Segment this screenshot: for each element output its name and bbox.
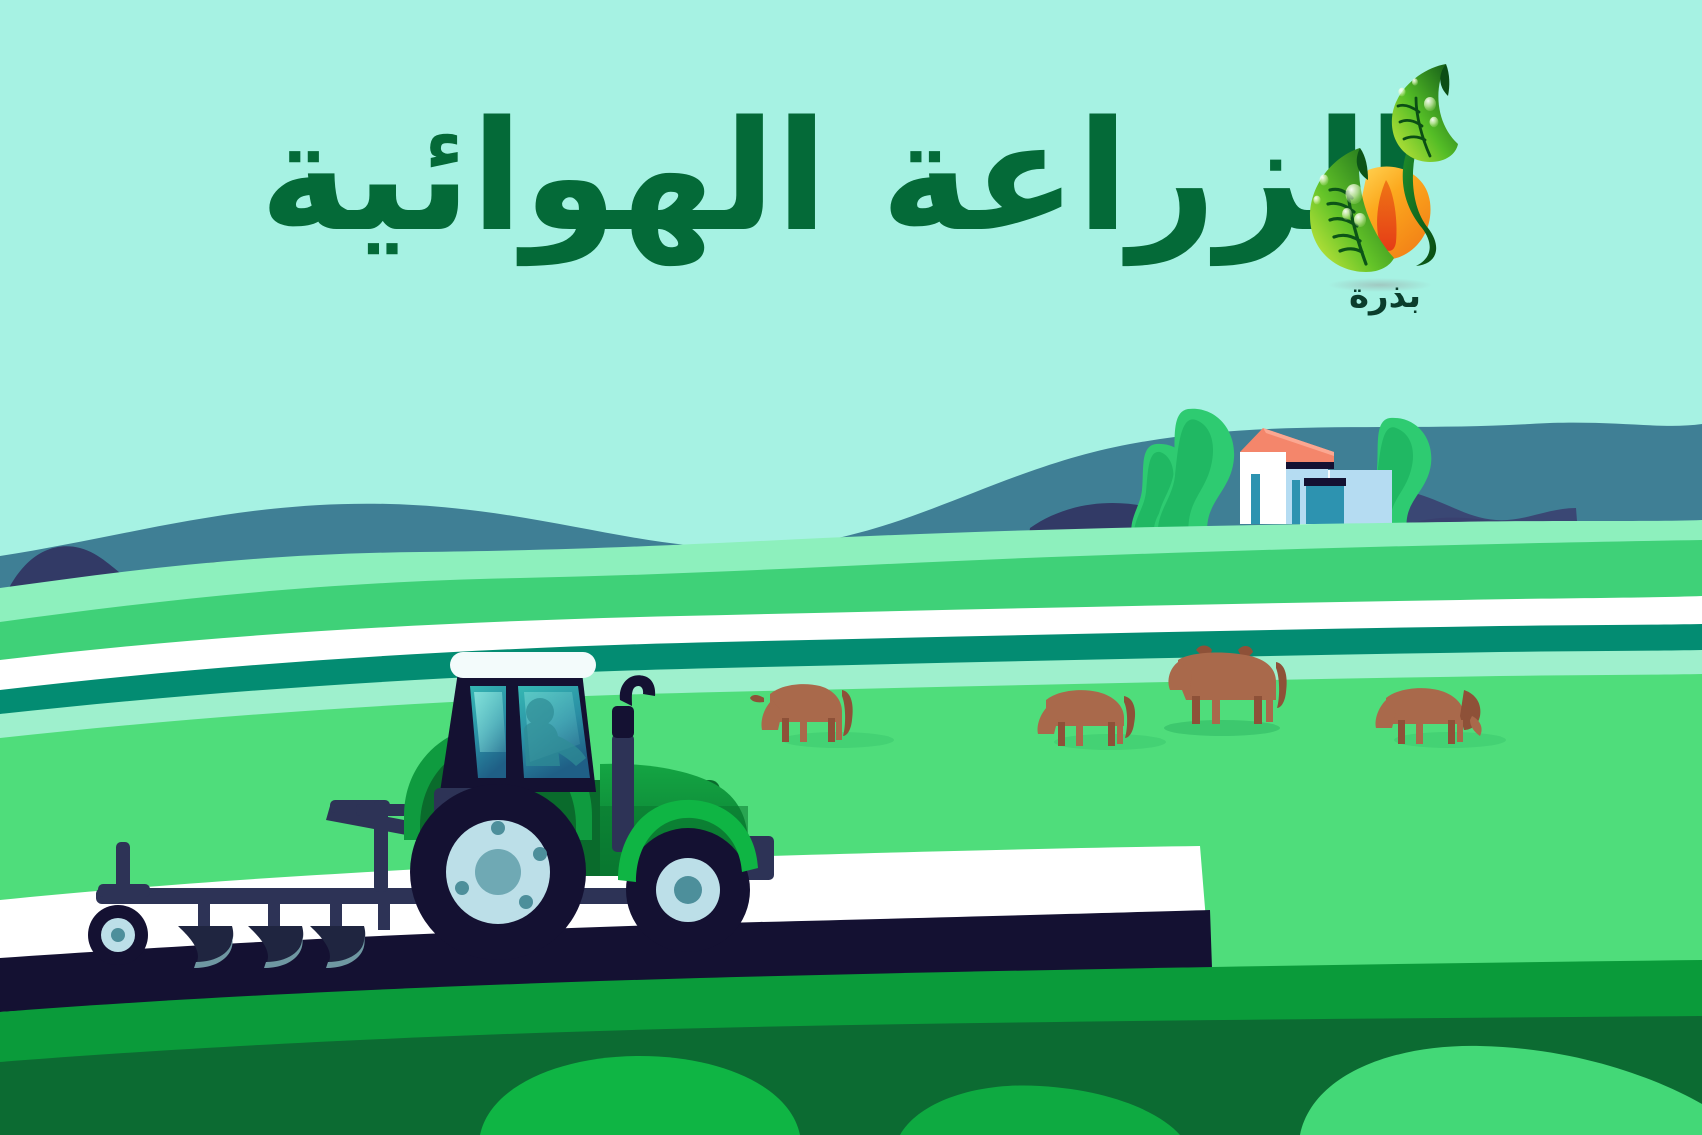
plow-beam <box>96 888 716 904</box>
lug-nut <box>519 895 533 909</box>
house-door <box>1292 480 1300 524</box>
tractor-exhaust-top <box>612 706 634 738</box>
garage-lintel <box>1304 478 1346 486</box>
plow-hitch-cross <box>356 804 408 816</box>
lug-nut <box>533 847 547 861</box>
tractor-roof <box>450 652 596 678</box>
lug-nut <box>455 881 469 895</box>
house-wall <box>1240 452 1286 524</box>
brand-caption: بذرة <box>1285 276 1485 316</box>
house-garage <box>1306 484 1344 524</box>
plow-wheel-axle <box>111 928 125 942</box>
house-window <box>1251 474 1260 524</box>
tractor-rear-hub-center <box>475 849 521 895</box>
tractor-cab-mullion <box>506 678 518 784</box>
lug-nut <box>491 821 505 835</box>
tractor-front-hub-center <box>674 876 702 904</box>
plow-crossbar <box>98 884 150 897</box>
roof-eave <box>1286 462 1334 469</box>
